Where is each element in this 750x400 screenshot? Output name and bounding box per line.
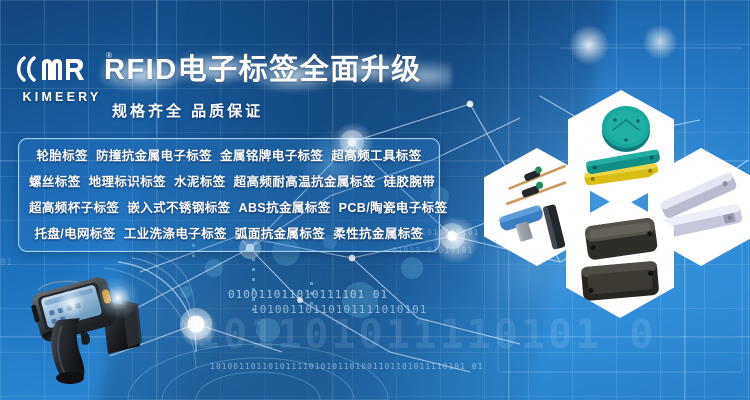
binary-text-strip: 1010011011010111101010110100110110101111… — [210, 362, 483, 371]
product-item: 地理标识标签 — [89, 175, 166, 189]
product-item: PCB/陶瓷电子标签 — [339, 201, 448, 215]
product-item: 螺丝标签 — [29, 175, 81, 189]
binary-text-large: 101101011110101 0 — [196, 312, 656, 358]
brand-name: KIMEERY — [14, 90, 110, 104]
kmr-logo-mark: ® — [14, 52, 110, 86]
binary-text-a: 010011011010111101 01 — [228, 288, 388, 301]
rfid-promo-banner: 010011011010111101 01 101001101101011110… — [0, 0, 750, 400]
product-item: 超高频耐高温抗金属标签 — [234, 175, 376, 189]
subheadline-text: 规格齐全 品质保证 — [112, 100, 263, 121]
product-item: 工业洗涤电子标签 — [124, 227, 227, 241]
binary-text-b: 10100110110101111010101 — [252, 303, 427, 316]
product-item: 托盘/电网标签 — [34, 227, 115, 241]
product-item: 超高频杯子标签 — [29, 201, 119, 215]
product-item: ABS抗金属标签 — [239, 201, 331, 215]
product-row-4: 托盘/电网标签工业洗涤电子标签弧面抗金属标签柔性抗金属标签 — [25, 221, 433, 247]
product-item: 硅胶腕带 — [384, 175, 436, 189]
handheld-rfid-reader — [24, 268, 156, 386]
handheld-reader-illustration — [24, 268, 156, 386]
grid-glow-1 — [566, 22, 612, 68]
grid-glow-2 — [640, 22, 680, 62]
product-item: 弧面抗金属标签 — [235, 227, 325, 241]
product-list-panel: 轮胎标签防撞抗金属电子标签金属铭牌电子标签超高频工具标签 螺丝标签地理标识标签水… — [18, 138, 440, 252]
brand-logo: ® KIMEERY — [14, 52, 110, 110]
product-item: 超高频工具标签 — [331, 149, 421, 163]
product-row-2: 螺丝标签地理标识标签水泥标签超高频耐高温抗金属标签硅胶腕带 — [25, 169, 433, 195]
kmr-monogram-icon — [14, 52, 110, 86]
product-item: 轮胎标签 — [36, 149, 88, 163]
headline-block: RFID电子标签全面升级 — [104, 48, 464, 94]
product-item: 柔性抗金属标签 — [333, 227, 423, 241]
binary-text-h: 01 — [0, 258, 13, 268]
product-item: 防撞抗金属电子标签 — [96, 149, 212, 163]
product-row-3: 超高频杯子标签嵌入式不锈钢标签ABS抗金属标签PCB/陶瓷电子标签 — [25, 195, 433, 221]
product-row-1: 轮胎标签防撞抗金属电子标签金属铭牌电子标签超高频工具标签 — [25, 143, 433, 169]
product-item: 金属铭牌电子标签 — [220, 149, 323, 163]
product-item: 水泥标签 — [174, 175, 226, 189]
product-item: 嵌入式不锈钢标签 — [127, 201, 230, 215]
headline-text: RFID电子标签全面升级 — [104, 48, 464, 92]
accent-glow-node — [176, 306, 220, 350]
